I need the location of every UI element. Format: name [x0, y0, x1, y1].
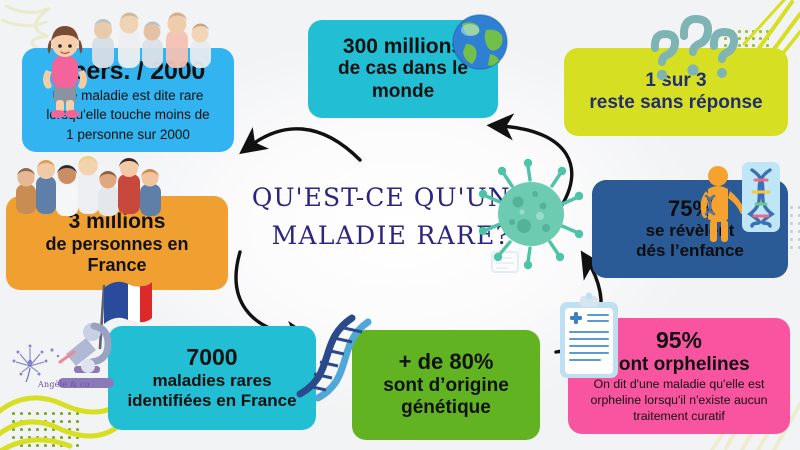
card-undiagnosed[interactable]: 1 sur 3 reste sans réponse [564, 48, 788, 136]
card-orphan-headline: 95% [656, 328, 702, 354]
card-identified-headline: 7000 [186, 345, 237, 371]
card-people-in-france[interactable]: 3 millions de personnes en France [6, 196, 228, 290]
card-genetic-headline: + de 80% [399, 350, 494, 375]
card-childhood-headline: 75% [668, 197, 712, 222]
card-prevalence-headline: 1 pers. / 2000 [51, 57, 205, 85]
card-orphan-line-2: orpheline lorsqu'il n'existe aucun [591, 393, 768, 408]
card-orphan-subhead: sont orphelines [608, 354, 749, 376]
card-genetic-line-1: sont d’origine [383, 375, 509, 397]
card-childhood-line-1: se révèlent [646, 221, 735, 241]
card-undiagnosed-headline: 1 sur 3 [645, 70, 706, 92]
card-childhood-line-2: dés l’enfance [636, 241, 744, 261]
card-identified-diseases[interactable]: 7000 maladies rares identifiées en Franc… [108, 326, 316, 430]
page-title-line-2: MALADIE RARE? [272, 217, 511, 255]
page-title: QU'EST-CE QU'UNE MALADIE RARE? [226, 162, 556, 272]
card-prevalence-line-3: 1 personne sur 2000 [66, 127, 190, 143]
card-prevalence-line-2: lorsqu'elle touche moins de [46, 107, 209, 123]
card-orphan-diseases[interactable]: 95% sont orphelines On dit d'une maladie… [568, 318, 790, 434]
arrow-to-prevalence [250, 129, 360, 160]
card-prevalence-line-1: Une maladie est dite rare [53, 88, 204, 104]
card-worldwide-line-2: monde [372, 81, 434, 103]
page-title-line-1: QU'EST-CE QU'UNE [252, 179, 530, 217]
card-france-line-1: de personnes en France [16, 234, 218, 276]
card-france-headline: 3 millions [69, 210, 166, 234]
card-undiagnosed-line-1: reste sans réponse [589, 92, 762, 114]
infographic-canvas: QU'EST-CE QU'UNE MALADIE RARE? 1 pers. /… [0, 0, 800, 450]
card-orphan-line-3: traitement curatif [633, 409, 725, 424]
card-prevalence[interactable]: 1 pers. / 2000 Une maladie est dite rare… [22, 48, 234, 152]
card-worldwide-headline: 300 millions [343, 35, 463, 59]
card-worldwide-line-1: de cas dans le [338, 58, 468, 80]
card-childhood-onset[interactable]: 75% se révèlent dés l’enfance [592, 180, 788, 278]
card-identified-line-1: maladies rares [152, 371, 271, 391]
logo-wordmark: Angèle & co [38, 380, 90, 389]
card-orphan-line-1: On dit d'une maladie qu'elle est [594, 377, 765, 392]
card-worldwide-cases[interactable]: 300 millions de cas dans le monde [308, 20, 498, 118]
card-genetic-line-2: génétique [401, 397, 491, 419]
card-genetic-origin[interactable]: + de 80% sont d’origine génétique [352, 330, 540, 440]
card-identified-line-2: identifiées en France [127, 391, 296, 411]
